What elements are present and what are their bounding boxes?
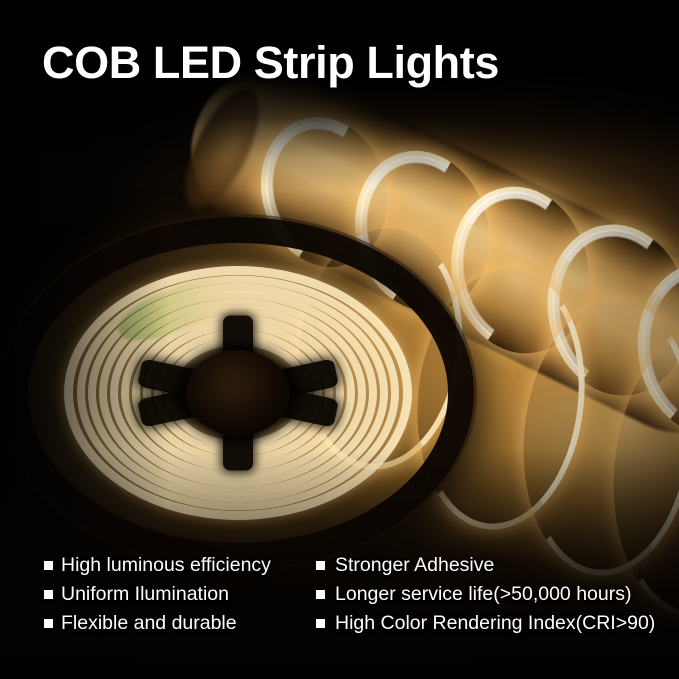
feature-item: Stronger Adhesive	[316, 556, 676, 585]
feature-label: Stronger Adhesive	[335, 556, 494, 576]
feature-item: High luminous efficiency	[44, 556, 316, 585]
feature-label: Longer service life(>50,000 hours)	[335, 585, 631, 605]
feature-item: Flexible and durable	[44, 614, 316, 643]
product-image-poster: COB LED Strip Lights High luminous effic…	[0, 0, 679, 679]
feature-label: Uniform Ilumination	[61, 585, 229, 605]
feature-label: Flexible and durable	[61, 614, 237, 634]
feature-item: Uniform Ilumination	[44, 585, 316, 614]
square-bullet-icon	[44, 590, 53, 599]
square-bullet-icon	[44, 619, 53, 628]
feature-column-right: Stronger Adhesive Longer service life(>5…	[316, 556, 676, 643]
square-bullet-icon	[316, 619, 325, 628]
page-title: COB LED Strip Lights	[42, 38, 499, 88]
feature-label: High luminous efficiency	[61, 556, 271, 576]
feature-label: High Color Rendering Index(CRI>90)	[335, 614, 655, 634]
feature-item: Longer service life(>50,000 hours)	[316, 585, 676, 614]
feature-list: High luminous efficiency Uniform Ilumina…	[0, 556, 679, 643]
feature-item: High Color Rendering Index(CRI>90)	[316, 614, 676, 643]
square-bullet-icon	[316, 561, 325, 570]
square-bullet-icon	[316, 590, 325, 599]
square-bullet-icon	[44, 561, 53, 570]
background-top-scrim	[0, 0, 679, 190]
feature-column-left: High luminous efficiency Uniform Ilumina…	[44, 556, 316, 643]
